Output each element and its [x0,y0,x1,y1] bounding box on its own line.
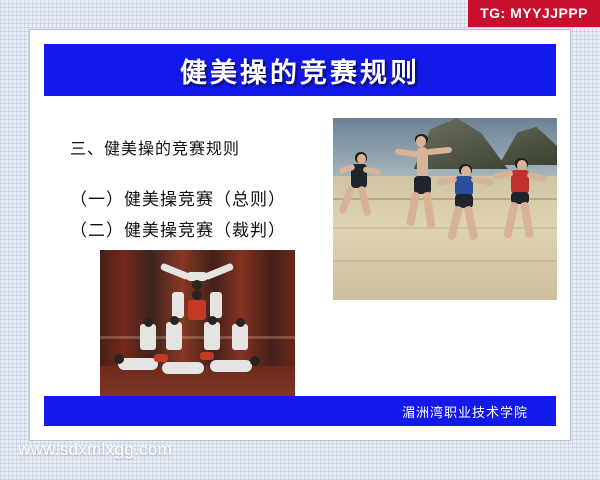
slide-title: 健美操的竞赛规则 [180,51,420,90]
beach-gymnasts-photo [333,118,557,300]
presentation-slide: 健美操的竞赛规则 三、健美操的竞赛规则 （一）健美操竞赛（总则） （二）健美操竞… [30,30,570,440]
body-item-1: （一）健美操竞赛（总则） [70,185,330,210]
slide-footer-bar: 湄洲湾职业技术学院 [44,396,556,426]
screenshot-canvas: TG: MYYJJPPP 健美操的竞赛规则 三、健美操的竞赛规则 （一）健美操竞… [0,0,600,480]
telegram-watermark-badge: TG: MYYJJPPP [468,0,600,27]
slide-body: 三、健美操的竞赛规则 （一）健美操竞赛（总则） （二）健美操竞赛（裁判） [70,135,330,247]
body-heading: 三、健美操的竞赛规则 [70,135,330,159]
body-item-2: （二）健美操竞赛（裁判） [70,216,330,241]
slide-title-bar: 健美操的竞赛规则 [44,44,556,96]
site-watermark: www.sdxmlxgg.com [18,440,172,460]
footer-organization: 湄洲湾职业技术学院 [402,402,528,421]
stage-pyramid-photo [100,250,295,415]
stage-backdrop-band [100,336,295,339]
